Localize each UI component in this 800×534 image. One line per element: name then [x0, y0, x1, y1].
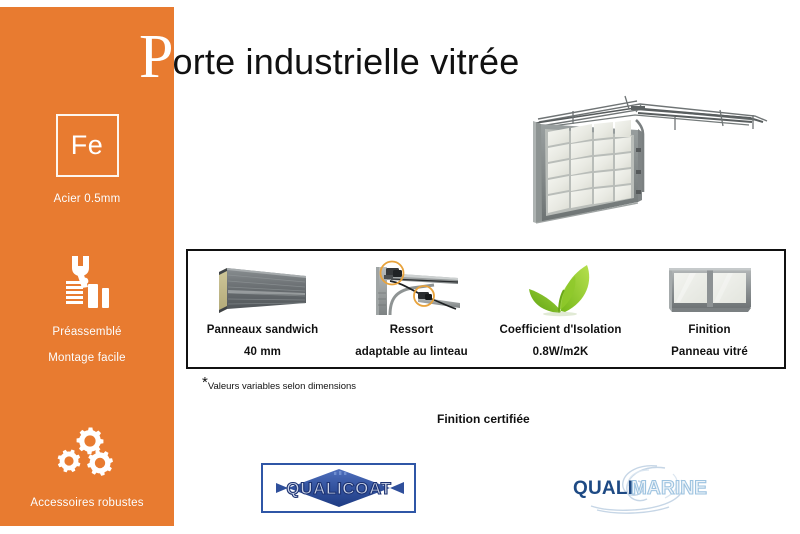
- sidebar-item-steel: Fe Acier 0.5mm: [0, 114, 174, 208]
- feature-sandwich-panel-value: 40 mm: [244, 346, 281, 358]
- feature-finish: Finition Panneau vitré: [635, 251, 784, 367]
- feature-sandwich-panel-label: Panneaux sandwich: [207, 324, 319, 336]
- fe-element-box-icon: Fe: [56, 114, 119, 177]
- page-title: P orte industrielle vitrée: [139, 26, 520, 88]
- feature-insulation-value: 0.8W/m2K: [533, 346, 589, 358]
- qualicoat-wordmark: QUALICOAT: [286, 479, 391, 498]
- feature-spring-label: Ressort: [390, 324, 434, 336]
- feature-spring-value: adaptable au linteau: [355, 346, 468, 358]
- footnote-text: Valeurs variables selon dimensions: [208, 381, 356, 392]
- qualicoat-logo: QUALICOAT: [261, 463, 416, 513]
- feature-finish-label: Finition: [688, 324, 730, 336]
- certification-heading: Finition certifiée: [437, 412, 530, 426]
- sidebar-item-preassembled-label2: Montage facile: [0, 350, 174, 367]
- feature-sandwich-panel: Panneaux sandwich 40 mm: [188, 251, 337, 367]
- feature-insulation: Coefficient d'Isolation 0.8W/m2K: [486, 251, 635, 367]
- footnote-asterisk: *: [202, 374, 208, 391]
- sidebar-item-accessories: Accessoires robustes: [0, 424, 174, 512]
- fe-symbol: Fe: [71, 130, 104, 161]
- product-datasheet: Fe Acier 0.5mm: [0, 0, 800, 534]
- feature-insulation-label: Coefficient d'Isolation: [500, 324, 622, 336]
- footnote: *Valeurs variables selon dimensions: [202, 381, 356, 392]
- qualimarine-wordmark-light: MARINE: [631, 478, 707, 499]
- sidebar-item-preassembled: Préassemblé Montage facile: [0, 254, 174, 367]
- gears-icon: [0, 424, 174, 487]
- wrench-assembly-icon: [0, 254, 174, 315]
- qualimarine-wordmark-dark: QUALI: [573, 478, 633, 499]
- sandwich-panel-icon: [209, 251, 317, 317]
- sidebar-item-steel-label: Acier 0.5mm: [0, 191, 174, 208]
- sidebar-item-preassembled-label1: Préassemblé: [0, 324, 174, 341]
- glazed-panel-icon: [660, 251, 760, 317]
- sidebar-item-accessories-label: Accessoires robustes: [0, 495, 174, 512]
- green-leaf-icon: [515, 251, 607, 317]
- feature-spring: Ressort adaptable au linteau: [337, 251, 486, 367]
- feature-specs-box: Panneaux sandwich 40 mm: [186, 249, 786, 369]
- spring-mechanism-icon: [360, 251, 464, 317]
- page-title-initial: P: [139, 26, 173, 88]
- feature-finish-value: Panneau vitré: [671, 346, 748, 358]
- hero-door-image: [505, 82, 790, 227]
- page-title-rest: orte industrielle vitrée: [172, 42, 519, 82]
- qualimarine-logo: QUALI MARINE: [561, 462, 711, 514]
